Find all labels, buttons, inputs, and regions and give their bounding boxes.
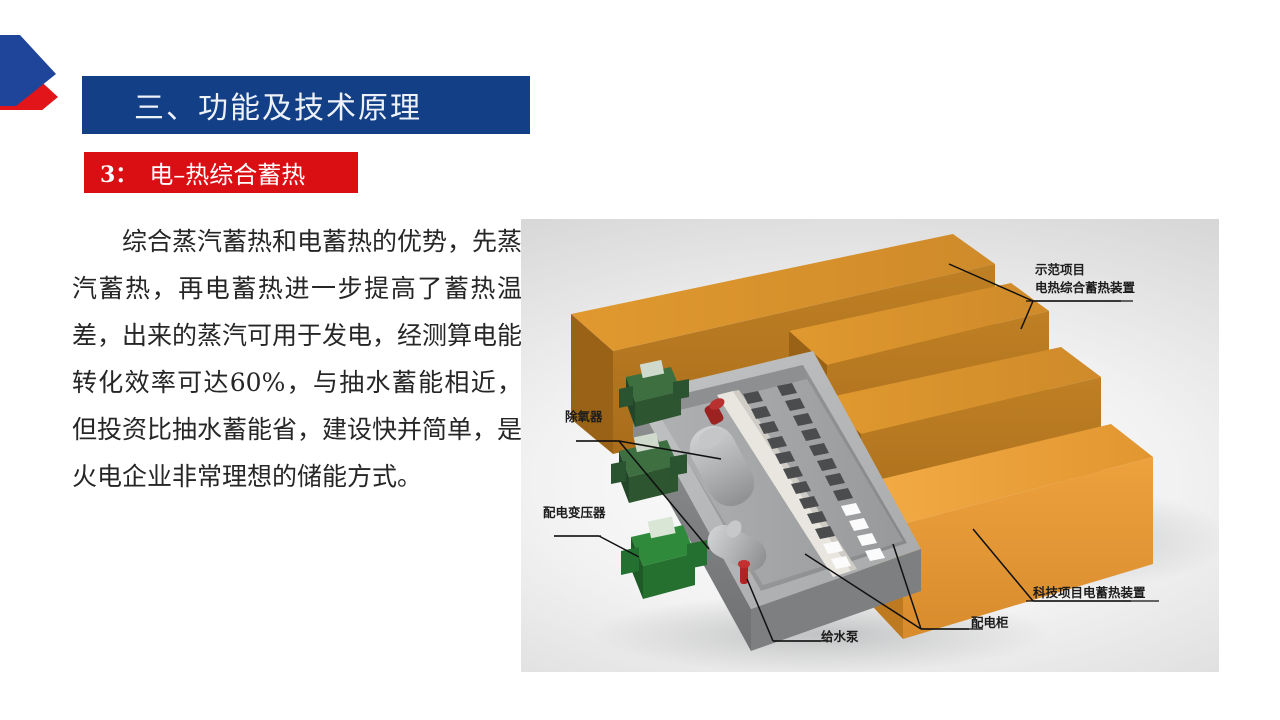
callout-feedpump: 给水泵	[821, 629, 859, 645]
slide: 三、功能及技术原理 3： 电–热综合蓄热 综合蒸汽蓄热和电蓄热的优势，先蒸汽蓄热…	[0, 0, 1280, 720]
subsection-label: 电–热综合蓄热	[137, 155, 305, 190]
corner-decoration	[0, 30, 70, 110]
subsection-bar: 3： 电–热综合蓄热	[84, 152, 358, 193]
subsection-number: 3：	[84, 157, 137, 189]
callout-demo-line1: 示范项目	[1035, 261, 1085, 278]
section-title-text: 三、功能及技术原理	[82, 83, 422, 127]
callout-demo-line2: 电热综合蓄热装置	[1035, 279, 1135, 296]
callout-deaerator: 除氧器	[565, 409, 603, 425]
callout-switchgear: 配电柜	[971, 615, 1009, 631]
callout-transformer: 配电变压器	[543, 505, 606, 521]
callout-sci-project: 科技项目电蓄热装置	[1033, 585, 1146, 601]
corner-arrow-icon	[0, 30, 70, 110]
body-paragraph: 综合蒸汽蓄热和电蓄热的优势，先蒸汽蓄热，再电蓄热进一步提高了蓄热温差，出来的蒸汽…	[72, 218, 522, 500]
figure-panel: 除氧器 配电变压器 给水泵 配电柜 示范项目 电热综合蓄热装置 科技项目电蓄热装…	[521, 219, 1219, 672]
section-title-bar: 三、功能及技术原理	[82, 76, 530, 134]
